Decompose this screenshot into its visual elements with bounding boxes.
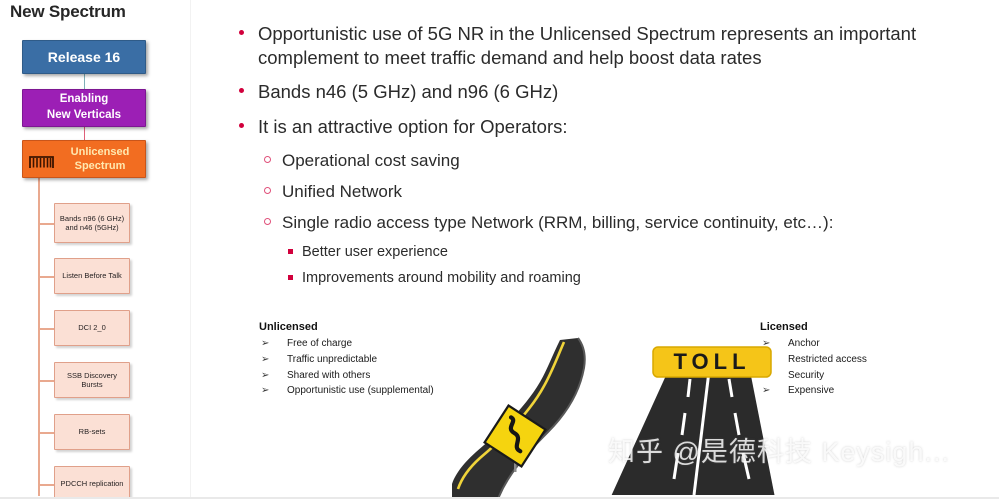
bullet-item: Bands n46 (5 GHz) and n96 (6 GHz) bbox=[236, 80, 996, 104]
winding-road-illustration bbox=[452, 334, 612, 499]
list-item: ➢ Free of charge bbox=[259, 336, 434, 352]
pane-divider bbox=[190, 0, 191, 499]
list-item-label: Traffic unpredictable bbox=[287, 354, 377, 365]
flow-connector-pdcch bbox=[38, 484, 55, 486]
toll-sign-label: TOLL bbox=[673, 349, 750, 374]
arrow-icon: ➢ bbox=[261, 352, 269, 368]
flow-box-release-16-label: Release 16 bbox=[48, 49, 120, 65]
flow-box-verticals-line1: Enabling bbox=[60, 92, 109, 108]
list-item-label: Expensive bbox=[788, 385, 834, 396]
bullet-item: Opportunistic use of 5G NR in the Unlice… bbox=[236, 22, 996, 69]
bullet-dot-icon bbox=[239, 88, 244, 93]
bullet-text: Opportunistic use of 5G NR in the Unlice… bbox=[258, 23, 916, 68]
flow-box-unlicensed-spectrum[interactable]: Unlicensed Spectrum bbox=[22, 140, 146, 178]
sub-sub-bullet-item: Better user experience bbox=[236, 243, 996, 261]
bullet-circle-icon bbox=[264, 218, 271, 225]
flow-connector-bands bbox=[38, 223, 55, 225]
spectrum-comb-icon bbox=[29, 150, 55, 170]
slide-canvas: New Spectrum Release 16 Enabling New Ver… bbox=[0, 0, 999, 499]
flow-sub-box-ssb-discovery-bursts[interactable]: SSB Discovery Bursts bbox=[54, 362, 130, 398]
sub-bullet-item: Operational cost saving bbox=[236, 150, 996, 171]
flow-sub-box-pdcch-label: PDCCH replication bbox=[61, 479, 124, 488]
sub-bullet-item: Unified Network bbox=[236, 181, 996, 202]
flow-box-enabling-new-verticals[interactable]: Enabling New Verticals bbox=[22, 89, 146, 127]
flow-box-release-16[interactable]: Release 16 bbox=[22, 40, 146, 74]
sub-bullet-text: Single radio access type Network (RRM, b… bbox=[282, 213, 833, 232]
flow-rail-vertical bbox=[38, 178, 40, 496]
sub-bullet-text: Unified Network bbox=[282, 182, 402, 201]
list-item-label: Anchor bbox=[788, 338, 820, 349]
list-item-label: Restricted access bbox=[788, 354, 867, 365]
flow-sub-box-lbt-label: Listen Before Talk bbox=[62, 271, 121, 280]
sub-bullet-text: Operational cost saving bbox=[282, 151, 460, 170]
bullet-dot-icon bbox=[239, 30, 244, 35]
toll-road-illustration: TOLL bbox=[598, 345, 783, 499]
flow-sub-box-bands-label: Bands n96 (6 GHz) and n46 (5GHz) bbox=[58, 214, 126, 233]
bullet-text: It is an attractive option for Operators… bbox=[258, 116, 568, 137]
list-item-label: Security bbox=[788, 370, 824, 381]
flow-sub-box-ssb-label: SSB Discovery Bursts bbox=[58, 371, 126, 390]
flow-sub-box-dci-2-0[interactable]: DCI 2_0 bbox=[54, 310, 130, 346]
bullet-square-icon bbox=[288, 249, 293, 254]
bullet-dot-icon bbox=[239, 123, 244, 128]
unlicensed-heading: Unlicensed bbox=[259, 321, 434, 333]
flow-connector-ssb bbox=[38, 380, 55, 382]
flow-connector-dci bbox=[38, 328, 55, 330]
sub-sub-bullet-text: Better user experience bbox=[302, 244, 448, 260]
link-verticals-to-unlicensed bbox=[84, 127, 85, 140]
bullet-text: Bands n46 (5 GHz) and n96 (6 GHz) bbox=[258, 81, 558, 102]
list-item: ➢ Opportunistic use (supplemental) bbox=[259, 383, 434, 399]
bullet-item: It is an attractive option for Operators… bbox=[236, 115, 996, 139]
list-item: ➢ Shared with others bbox=[259, 368, 434, 384]
list-item-label: Opportunistic use (supplemental) bbox=[287, 385, 434, 396]
bullet-circle-icon bbox=[264, 187, 271, 194]
licensed-heading: Licensed bbox=[760, 321, 867, 333]
flow-sub-box-bands[interactable]: Bands n96 (6 GHz) and n46 (5GHz) bbox=[54, 203, 130, 243]
list-item: ➢ Traffic unpredictable bbox=[259, 352, 434, 368]
spectrum-flow-diagram: Release 16 Enabling New Verticals Unlice… bbox=[0, 32, 190, 499]
page-title: New Spectrum bbox=[10, 2, 126, 22]
arrow-icon: ➢ bbox=[261, 383, 269, 399]
link-release-to-verticals bbox=[84, 74, 85, 89]
flow-sub-box-rb-sets[interactable]: RB-sets bbox=[54, 414, 130, 450]
arrow-icon: ➢ bbox=[261, 368, 269, 384]
unlicensed-comparison-list: Unlicensed ➢ Free of charge ➢ Traffic un… bbox=[259, 321, 434, 399]
flow-connector-lbt bbox=[38, 276, 55, 278]
bullet-circle-icon bbox=[264, 156, 271, 163]
bullet-content: Opportunistic use of 5G NR in the Unlice… bbox=[236, 22, 996, 294]
flow-sub-box-rbsets-label: RB-sets bbox=[79, 427, 106, 436]
sub-sub-bullet-item: Improvements around mobility and roaming bbox=[236, 269, 996, 287]
bullet-square-icon bbox=[288, 275, 293, 280]
flow-sub-box-dci-label: DCI 2_0 bbox=[78, 323, 106, 332]
flow-box-unlicensed-line2: Spectrum bbox=[75, 159, 126, 173]
list-item-label: Shared with others bbox=[287, 370, 370, 381]
sub-sub-bullet-text: Improvements around mobility and roaming bbox=[302, 270, 581, 286]
flow-sub-box-pdcch-replication[interactable]: PDCCH replication bbox=[54, 466, 130, 499]
flow-box-verticals-line2: New Verticals bbox=[47, 108, 121, 124]
arrow-icon: ➢ bbox=[261, 336, 269, 352]
flow-connector-rbsets bbox=[38, 432, 55, 434]
flow-box-unlicensed-line1: Unlicensed bbox=[71, 145, 130, 159]
flow-sub-box-listen-before-talk[interactable]: Listen Before Talk bbox=[54, 258, 130, 294]
list-item-label: Free of charge bbox=[287, 338, 352, 349]
sub-bullet-item: Single radio access type Network (RRM, b… bbox=[236, 212, 996, 233]
